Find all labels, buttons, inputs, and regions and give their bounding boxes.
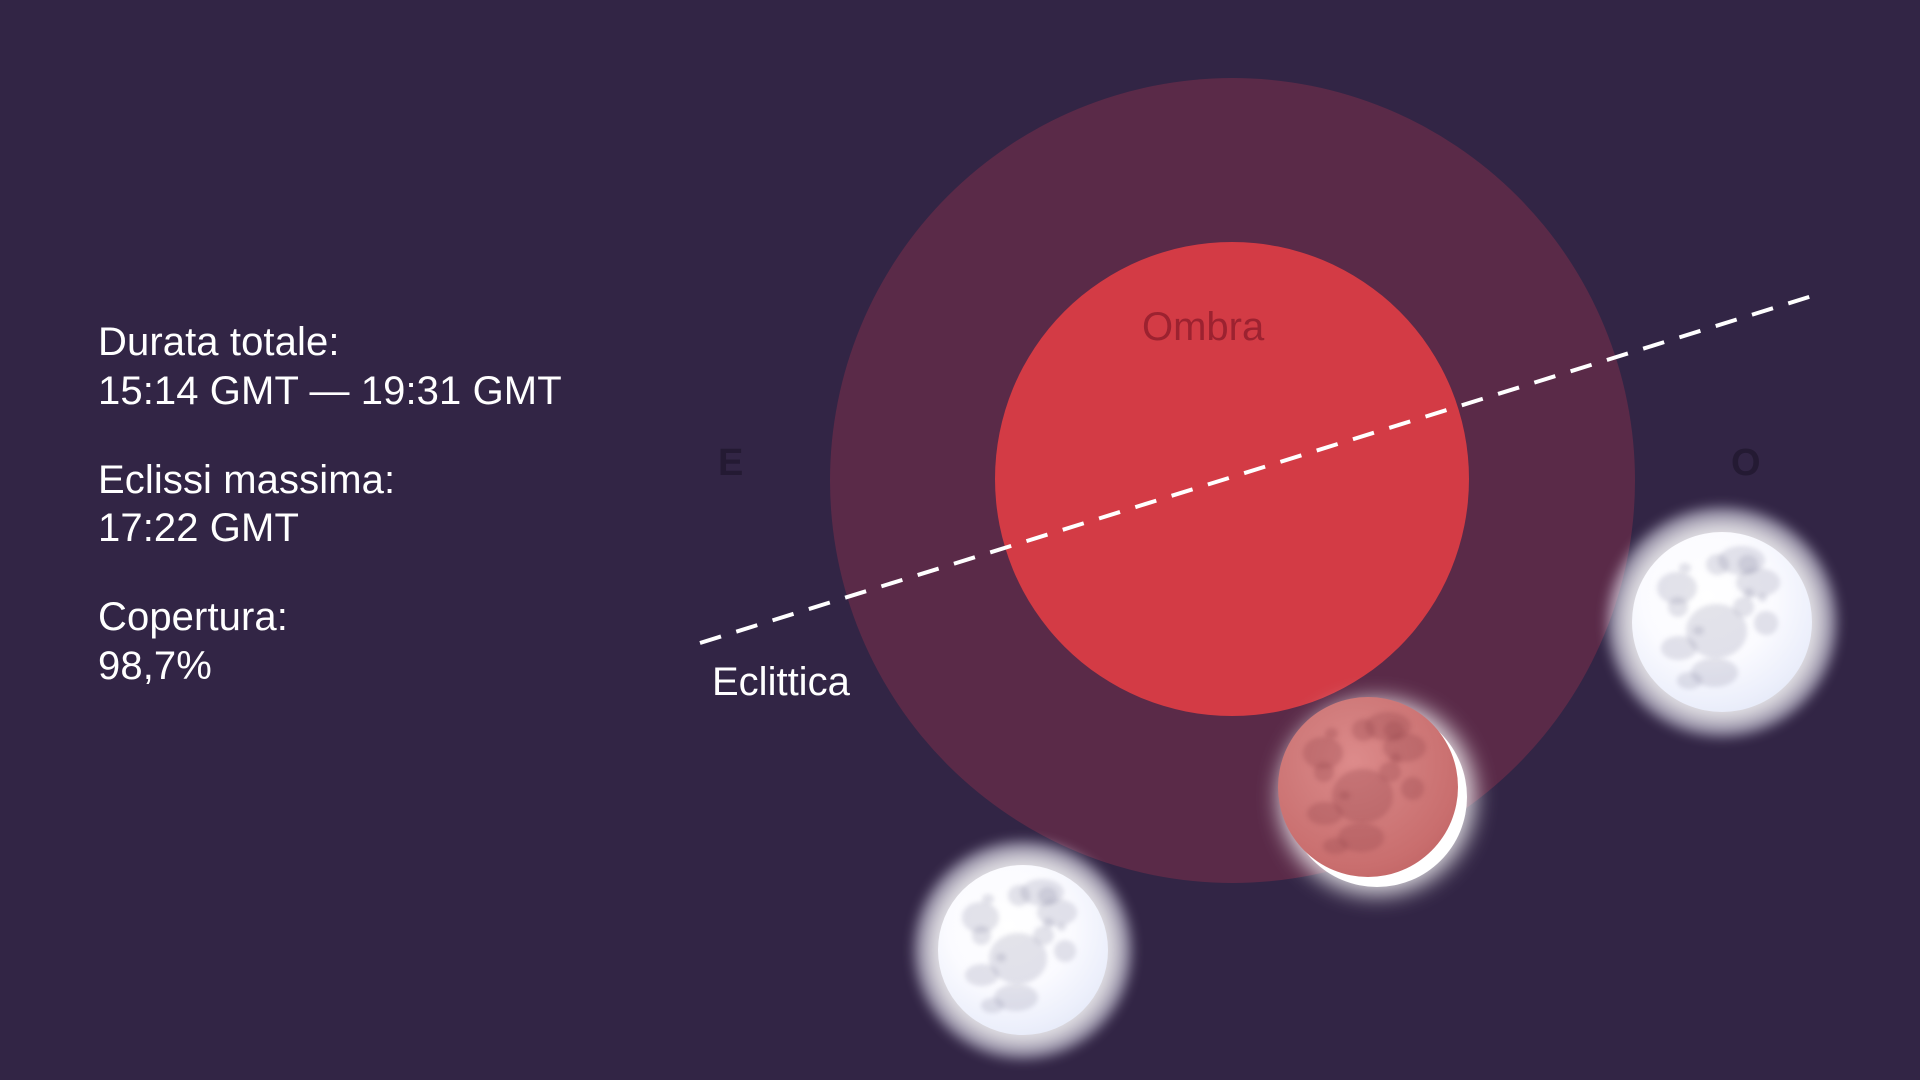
moon-disc bbox=[938, 865, 1108, 1035]
umbra-label: Ombra bbox=[1142, 305, 1264, 350]
info-coverage: Copertura: 98,7% bbox=[98, 593, 718, 691]
info-duration: Durata totale: 15:14 GMT — 19:31 GMT bbox=[98, 318, 718, 416]
moon-disc bbox=[1632, 532, 1812, 712]
moon-disc bbox=[1278, 697, 1458, 877]
ecliptic-label: Eclittica bbox=[712, 660, 850, 705]
maximum-label: Eclissi massima: bbox=[98, 456, 718, 505]
cardinal-label-east: E bbox=[718, 442, 743, 485]
duration-value: 15:14 GMT — 19:31 GMT bbox=[98, 367, 718, 416]
moon-eclipsed bbox=[1280, 700, 1460, 880]
coverage-label: Copertura: bbox=[98, 593, 718, 642]
coverage-value: 98,7% bbox=[98, 642, 718, 691]
duration-label: Durata totale: bbox=[98, 318, 718, 367]
eclipse-info-panel: Durata totale: 15:14 GMT — 19:31 GMT Ecl… bbox=[98, 318, 718, 691]
eclipse-diagram: Ombra E O Eclittica bbox=[0, 0, 1920, 1080]
maximum-value: 17:22 GMT bbox=[98, 504, 718, 553]
moon-before-eclipse bbox=[938, 865, 1108, 1035]
cardinal-label-west: O bbox=[1731, 442, 1761, 485]
moon-after-eclipse bbox=[1632, 532, 1812, 712]
info-maximum: Eclissi massima: 17:22 GMT bbox=[98, 456, 718, 554]
